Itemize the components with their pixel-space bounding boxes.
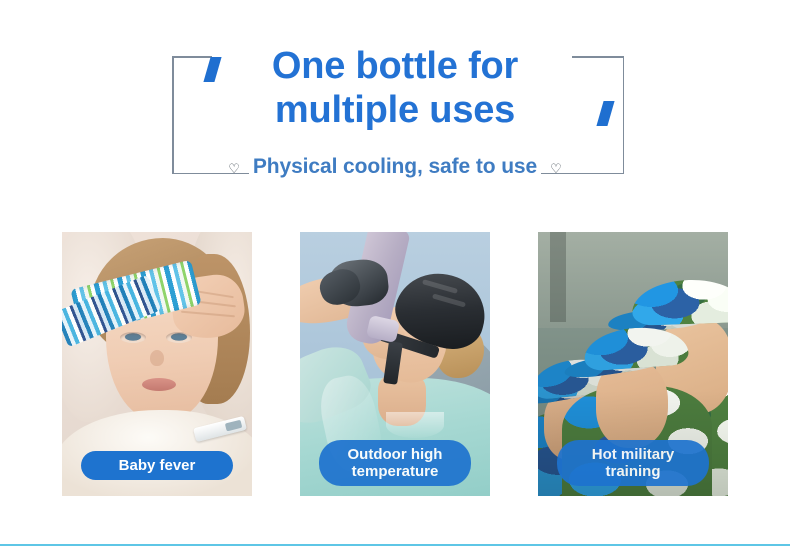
card-caption-hot-military-training: Hot military training xyxy=(557,440,709,486)
page-subtitle: Physical cooling, safe to use xyxy=(249,155,541,179)
heart-left-icon: ♡ xyxy=(228,162,240,175)
page-title: One bottle for multiple uses xyxy=(0,44,790,132)
use-case-card-row: Baby fever Outdoor high xyxy=(0,232,790,496)
caption-line-2: temperature xyxy=(333,463,457,480)
card-caption-baby-fever: Baby fever xyxy=(81,451,233,480)
card-caption-outdoor-high-temperature: Outdoor high temperature xyxy=(319,440,471,486)
subtitle-row: ♡ Physical cooling, safe to use ♡ xyxy=(0,155,790,179)
caption-line-1: Hot military xyxy=(571,446,695,463)
caption-line-2: training xyxy=(571,463,695,480)
use-case-card-hot-military-training[interactable]: Hot military training xyxy=(538,232,728,496)
use-case-card-baby-fever[interactable]: Baby fever xyxy=(62,232,252,496)
title-line-2: multiple uses xyxy=(0,88,790,132)
bottom-divider-rule xyxy=(0,544,790,546)
use-case-card-outdoor-high-temperature[interactable]: Outdoor high temperature xyxy=(300,232,490,496)
heart-right-icon: ♡ xyxy=(550,162,562,175)
title-line-1: One bottle for xyxy=(0,44,790,88)
caption-line-1: Outdoor high xyxy=(333,446,457,463)
header-banner: One bottle for multiple uses ♡ Physical … xyxy=(0,0,790,210)
